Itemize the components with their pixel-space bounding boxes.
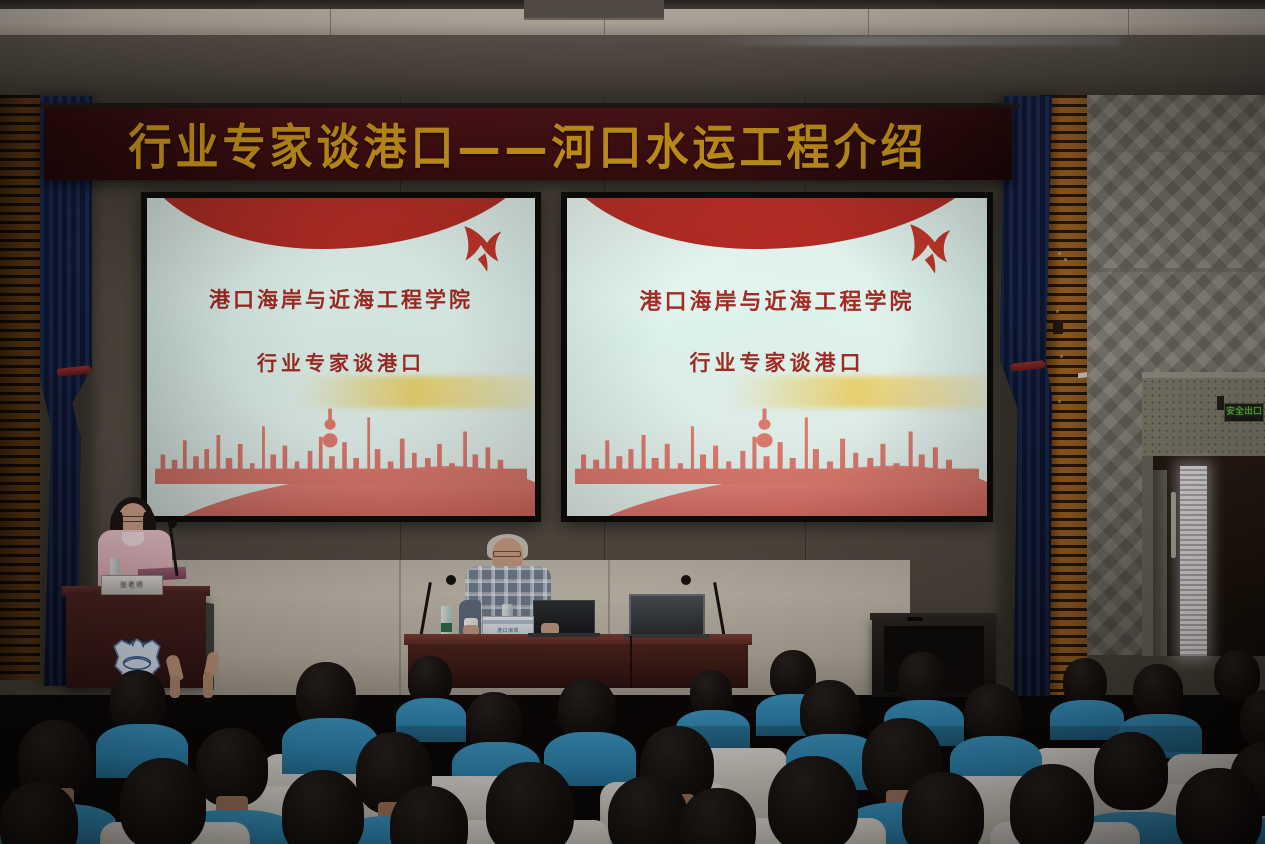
ceiling-seam bbox=[1128, 9, 1129, 35]
microphone-icon bbox=[681, 575, 691, 585]
dove-icon bbox=[899, 214, 966, 284]
wall-speck bbox=[1058, 400, 1061, 403]
loudspeaker-handle-slot bbox=[907, 617, 923, 621]
ceiling-seam bbox=[868, 9, 869, 35]
slide-right: 港口海岸与近海工程学院 行业专家谈港口 bbox=[567, 198, 987, 516]
list-item bbox=[1176, 768, 1262, 844]
city-skyline-icon bbox=[155, 405, 527, 485]
door-jamb bbox=[1153, 470, 1167, 656]
wall-speck bbox=[1064, 258, 1067, 261]
list-item bbox=[1094, 732, 1168, 810]
list-item bbox=[486, 762, 574, 844]
podium-nameplate: 张老师 bbox=[101, 575, 163, 595]
list-item bbox=[1010, 764, 1094, 844]
list-item bbox=[110, 670, 166, 732]
acoustic-groove bbox=[1087, 150, 1265, 152]
ceiling-vent-panel bbox=[524, 0, 664, 20]
banner-title: 行业专家谈港口——河口水运工程介绍 bbox=[129, 109, 928, 178]
slide-horizon-glow bbox=[727, 376, 987, 408]
audience-seating bbox=[0, 636, 1265, 844]
wall-speck bbox=[1056, 310, 1059, 313]
slide-left: 港口海岸与近海工程学院 行业专家谈港口 bbox=[147, 198, 535, 516]
wall-speck bbox=[1058, 252, 1061, 255]
list-item bbox=[902, 772, 984, 844]
slide-horizon-glow bbox=[294, 376, 535, 408]
microphone-icon bbox=[446, 575, 456, 585]
list-item bbox=[608, 776, 688, 844]
exit-sign: 安全出口 bbox=[1224, 403, 1264, 422]
glasses-icon bbox=[493, 551, 521, 557]
ceiling-seam bbox=[330, 9, 331, 35]
presenter-collar bbox=[122, 532, 144, 546]
list-item bbox=[120, 758, 206, 844]
slide-subtitle-right: 行业专家谈港口 bbox=[567, 347, 987, 377]
exit-sign-label: 安全出口 bbox=[1226, 408, 1262, 417]
dove-icon bbox=[454, 214, 516, 284]
window-blinds bbox=[1180, 466, 1207, 656]
wood-wall-left-shadow bbox=[0, 95, 40, 680]
wall-speck bbox=[1060, 355, 1063, 358]
list-item bbox=[964, 684, 1022, 744]
list-item bbox=[1063, 658, 1107, 706]
list-item bbox=[898, 652, 946, 704]
list-item bbox=[1133, 664, 1183, 718]
auditorium-scene: 安全出口 行业专家谈港口——河口水运工程介绍 bbox=[0, 0, 1265, 844]
exit-sign-mount bbox=[1217, 396, 1224, 410]
acoustic-wall-trim bbox=[1087, 268, 1265, 272]
laptop-screen-secondary[interactable] bbox=[629, 594, 705, 636]
tissue-box-stripe bbox=[483, 620, 533, 624]
slide-subtitle-left: 行业专家谈港口 bbox=[147, 347, 535, 376]
door-interior-dark bbox=[1207, 456, 1265, 656]
slide-title-right: 港口海岸与近海工程学院 bbox=[567, 284, 987, 316]
event-banner: 行业专家谈港口——河口水运工程介绍 bbox=[44, 108, 1012, 180]
door-frame bbox=[1142, 456, 1153, 656]
city-skyline-icon bbox=[575, 405, 978, 485]
list-item bbox=[282, 770, 364, 844]
list-item bbox=[408, 656, 452, 704]
list-item bbox=[558, 678, 616, 740]
slide-title-left: 港口海岸与近海工程学院 bbox=[147, 284, 535, 314]
water-bottle-left bbox=[441, 606, 452, 636]
nameplate-text: 张老师 bbox=[120, 580, 144, 590]
microphone-icon bbox=[168, 519, 177, 528]
projection-screen-left: 港口海岸与近海工程学院 行业专家谈港口 bbox=[141, 192, 541, 522]
soffit-light-sheen bbox=[700, 36, 1120, 46]
list-item bbox=[768, 756, 858, 844]
ceiling-seam bbox=[604, 9, 605, 35]
projection-screen-right: 港口海岸与近海工程学院 行业专家谈港口 bbox=[561, 192, 993, 522]
door-handle[interactable] bbox=[1171, 492, 1176, 558]
list-item bbox=[196, 728, 268, 806]
tissue-box-label: 港口海岸 bbox=[497, 627, 519, 634]
